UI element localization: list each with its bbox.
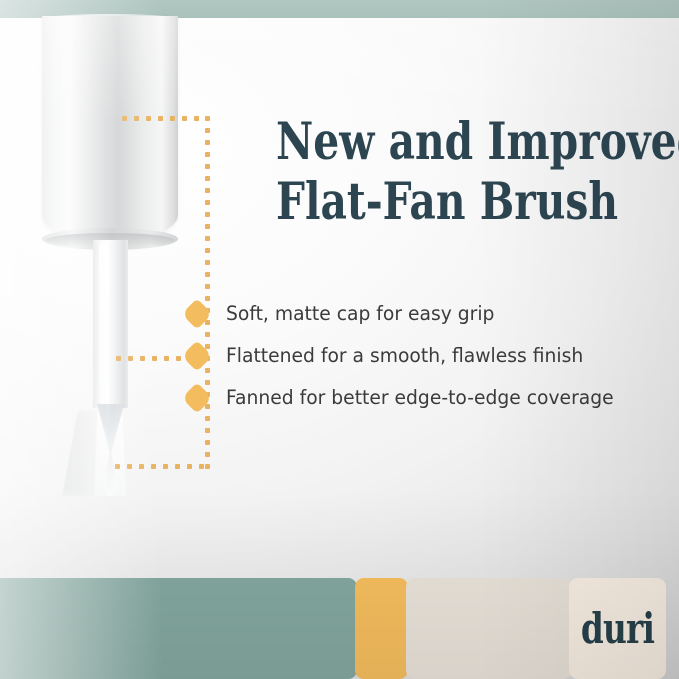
bottom-block-amber (355, 578, 408, 679)
connector-dot (205, 284, 210, 289)
diamond-bullet-icon (181, 382, 212, 413)
product-image (0, 0, 260, 520)
connector-dot (205, 260, 210, 265)
connector-dot (116, 356, 121, 361)
diamond-bullet-icon (181, 298, 212, 329)
connector-dot (194, 116, 199, 121)
connector-dot (163, 464, 168, 469)
connector-dot (205, 128, 210, 133)
list-item: Fanned for better edge-to-edge coverage (186, 384, 666, 426)
connector-dot (205, 188, 210, 193)
connector-dot (205, 248, 210, 253)
connector-dot (205, 452, 210, 457)
connector-dot (205, 236, 210, 241)
connector-dot (146, 116, 151, 121)
brush-stem-highlight (99, 244, 107, 404)
feature-text: Flattened for a smooth, flawless finish (226, 342, 583, 370)
feature-list: Soft, matte cap for easy grip Flattened … (186, 300, 666, 426)
connector-dot (122, 116, 127, 121)
brand-logo: duri (580, 578, 656, 679)
connector-dot (151, 464, 156, 469)
connector-dot (128, 356, 133, 361)
connector-dot (205, 440, 210, 445)
connector-dot (134, 116, 139, 121)
connector-dot (205, 116, 210, 121)
connector-dot (127, 464, 132, 469)
connector-dot (170, 116, 175, 121)
brush-bristles (60, 404, 160, 496)
list-item: Soft, matte cap for easy grip (186, 300, 666, 342)
diamond-bullet-icon (181, 340, 212, 371)
connector-dot (187, 464, 192, 469)
connector-dot (182, 116, 187, 121)
connector-dot (199, 464, 204, 469)
bottom-color-bar (0, 578, 679, 679)
page-title: New and Improved Flat-Fan Brush (276, 112, 588, 232)
connector-dot (205, 200, 210, 205)
bottom-block-beige (406, 578, 572, 679)
polish-cap (42, 16, 178, 241)
bottom-block-sage (0, 578, 357, 679)
connector-dot (205, 428, 210, 433)
connector-dot (152, 356, 157, 361)
headline-line-2: Flat-Fan Brush (276, 172, 588, 232)
connector-dot (158, 116, 163, 121)
connector-dot (176, 356, 181, 361)
connector-dot (205, 464, 210, 469)
connector-dot (115, 464, 120, 469)
connector-dot (205, 176, 210, 181)
connector-dot (205, 272, 210, 277)
headline-line-1: New and Improved (276, 112, 588, 172)
connector-dot (205, 164, 210, 169)
product-feature-banner: New and Improved Flat-Fan Brush Soft, ma… (0, 0, 679, 679)
connector-dot (205, 212, 210, 217)
connector-dot (140, 356, 145, 361)
connector-dot (164, 356, 169, 361)
connector-dot (205, 224, 210, 229)
feature-text: Fanned for better edge-to-edge coverage (226, 384, 614, 412)
connector-dot (139, 464, 144, 469)
feature-text: Soft, matte cap for easy grip (226, 300, 494, 328)
connector-dot (205, 152, 210, 157)
list-item: Flattened for a smooth, flawless finish (186, 342, 666, 384)
connector-dot (205, 140, 210, 145)
connector-dot (175, 464, 180, 469)
